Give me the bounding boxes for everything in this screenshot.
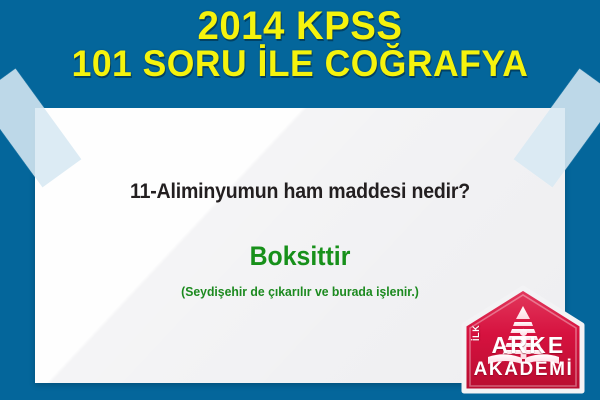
logo-prefix-text: İLK: [471, 325, 481, 341]
brand-logo[interactable]: İLK ARKE AKADEMİ: [458, 285, 589, 397]
answer-text: Boksittir: [56, 241, 544, 272]
question-text: 11-Aliminyumun ham maddesi nedir?: [54, 180, 547, 204]
poster-canvas: 2014 KPSS 101 SORU İLE COĞRAFYA 11-Alimi…: [0, 0, 600, 400]
header-band: [0, 0, 600, 108]
brand-logo-shape: [458, 285, 589, 397]
